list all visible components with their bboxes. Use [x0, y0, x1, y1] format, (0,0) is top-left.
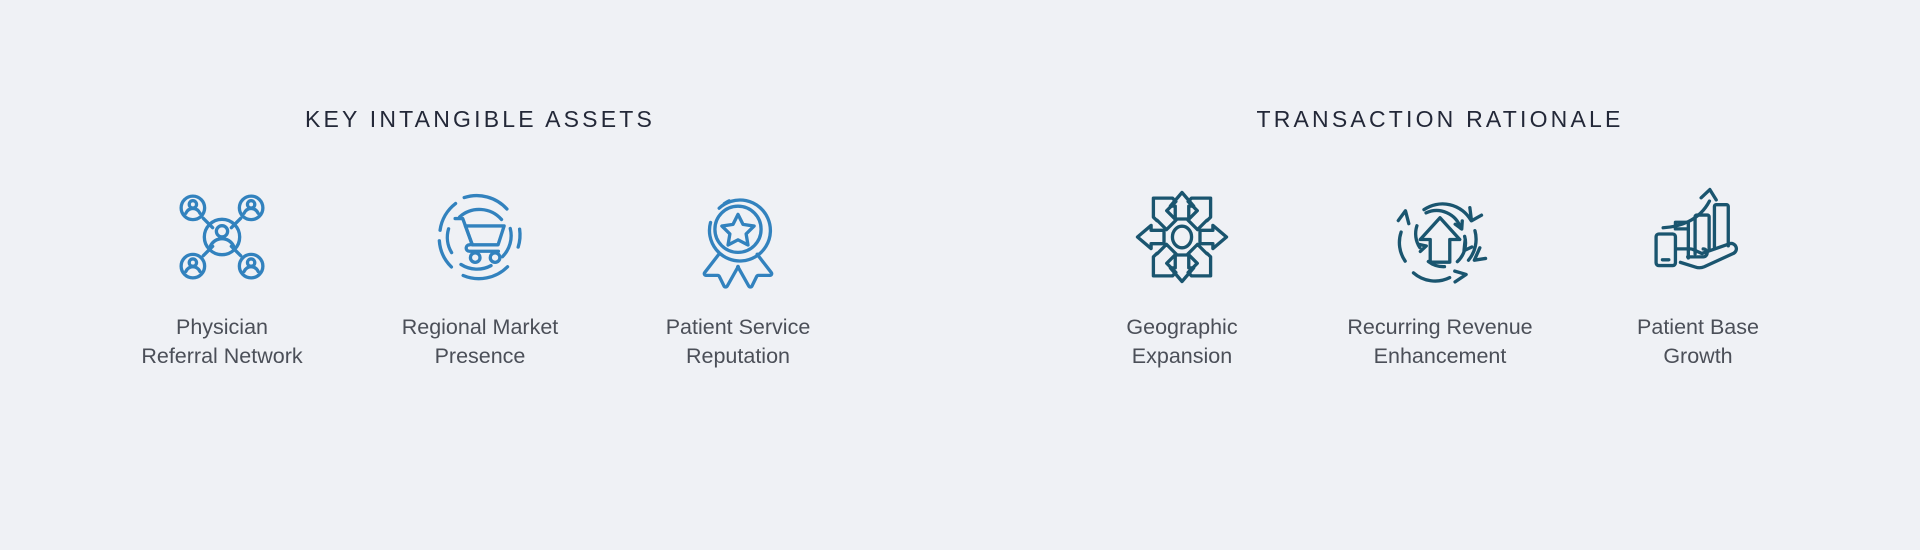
infographic-board: KEY INTANGIBLE ASSETS [0, 0, 1920, 550]
card-label: Physician Referral Network [141, 313, 302, 371]
panel-title-right: TRANSACTION RATIONALE [1256, 108, 1623, 131]
panel-transaction-rationale: TRANSACTION RATIONALE [960, 108, 1920, 371]
card-patient-base-growth[interactable]: Patient Base Growth [1569, 183, 1827, 371]
card-label: Patient Base Growth [1637, 313, 1759, 371]
award-ribbon-star-icon [684, 183, 792, 291]
panel-key-intangible-assets: KEY INTANGIBLE ASSETS [0, 108, 960, 371]
card-label: Patient Service Reputation [666, 313, 811, 371]
card-label: Recurring Revenue Enhancement [1347, 313, 1532, 371]
card-label: Regional Market Presence [402, 313, 559, 371]
panel-title-left: KEY INTANGIBLE ASSETS [305, 108, 655, 131]
card-label: Geographic Expansion [1126, 313, 1237, 371]
referral-network-icon [168, 183, 276, 291]
card-geographic-expansion[interactable]: Geographic Expansion [1053, 183, 1311, 371]
card-recurring-revenue-enhancement[interactable]: Recurring Revenue Enhancement [1311, 183, 1569, 371]
card-patient-service-reputation[interactable]: Patient Service Reputation [609, 183, 867, 371]
panels-container: KEY INTANGIBLE ASSETS [0, 0, 1920, 371]
recurring-growth-arrow-icon [1386, 183, 1494, 291]
card-physician-referral-network[interactable]: Physician Referral Network [93, 183, 351, 371]
cards-row-right: Geographic Expansion [1053, 183, 1827, 371]
card-regional-market-presence[interactable]: Regional Market Presence [351, 183, 609, 371]
expand-arrows-icon [1128, 183, 1236, 291]
shopping-cart-circle-icon [426, 183, 534, 291]
hand-bar-chart-growth-icon [1644, 183, 1752, 291]
cards-row-left: Physician Referral Network [93, 183, 867, 371]
